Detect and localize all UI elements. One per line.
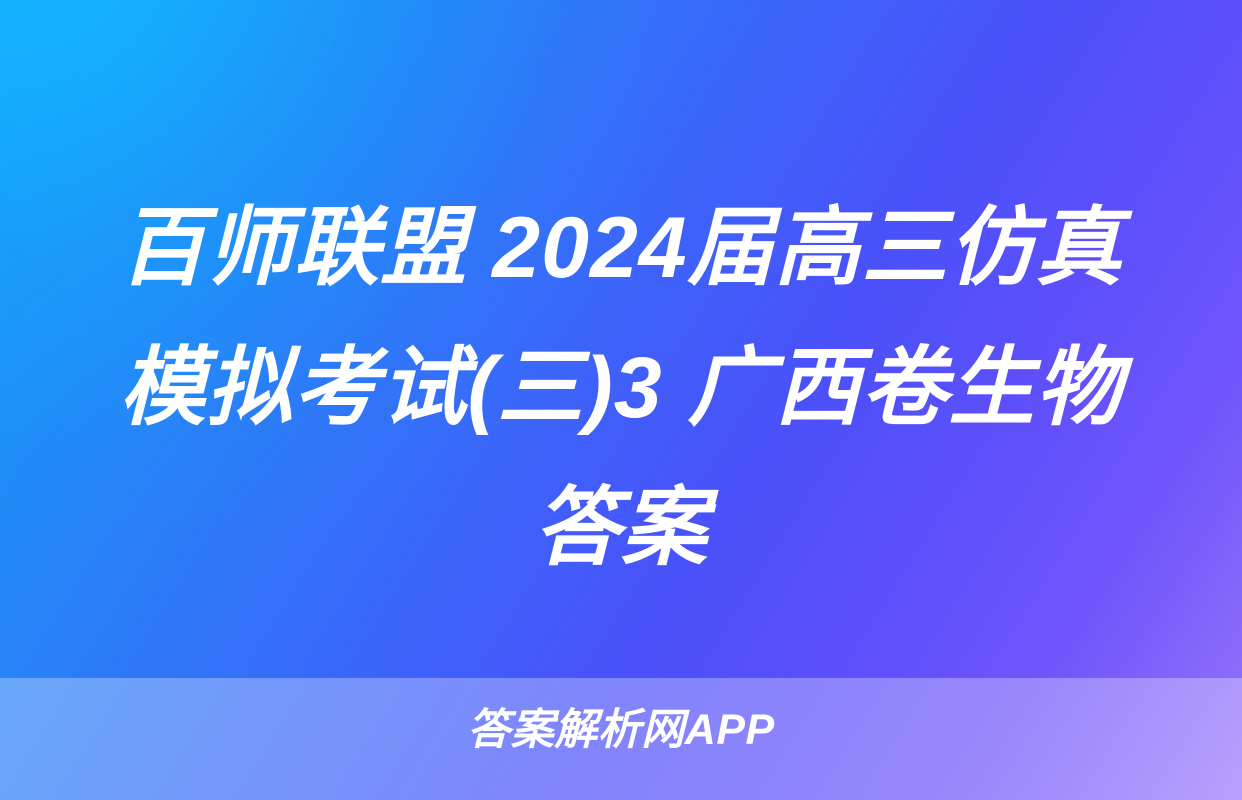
watermark-app-label: 答案解析网APP xyxy=(0,704,1242,756)
poster-canvas: 百师联盟 2024届高三仿真模拟考试(三)3 广西卷生物答案 答案解析网APP xyxy=(0,0,1242,800)
page-title: 百师联盟 2024届高三仿真模拟考试(三)3 广西卷生物答案 xyxy=(0,178,1242,598)
